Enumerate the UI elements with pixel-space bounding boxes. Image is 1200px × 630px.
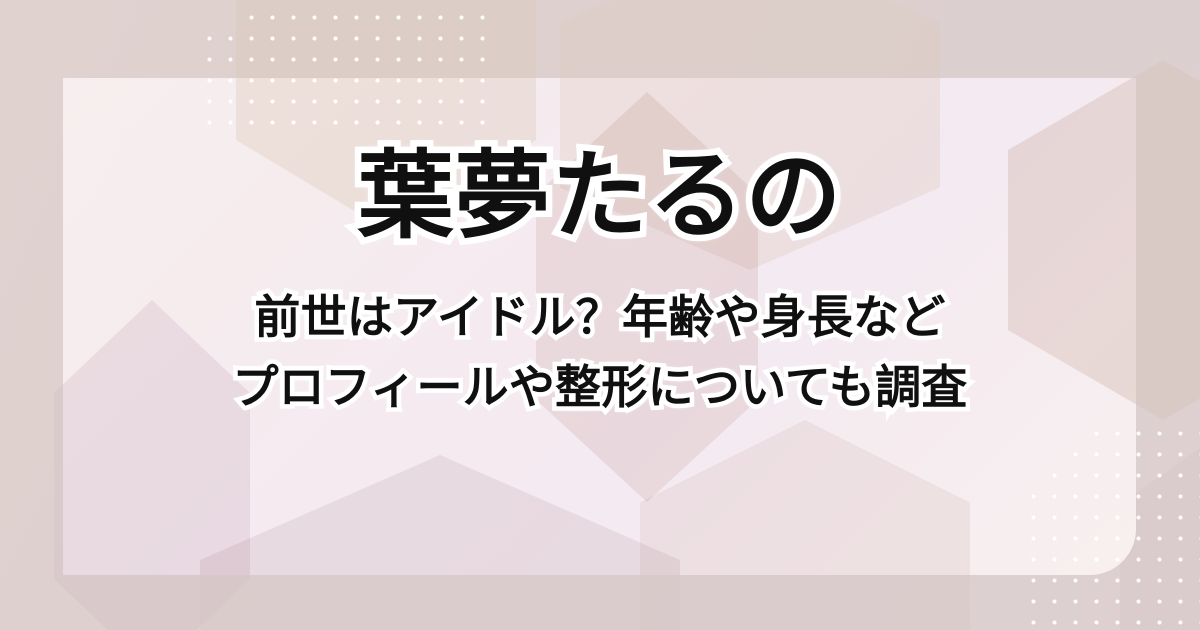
subtitle-line-2: プロフィールや整形についても調査 [232,353,967,423]
thumbnail-canvas: 葉夢たるの 前世はアイドル？年齢や身長など プロフィールや整形についても調査 [0,0,1200,630]
text-layer: 葉夢たるの 前世はアイドル？年齢や身長など プロフィールや整形についても調査 [0,0,1200,630]
subtitle-line-1: 前世はアイドル？年齢や身長など [232,283,967,353]
page-title: 葉夢たるの [358,146,843,247]
page-subtitle: 前世はアイドル？年齢や身長など プロフィールや整形についても調査 [232,283,967,423]
